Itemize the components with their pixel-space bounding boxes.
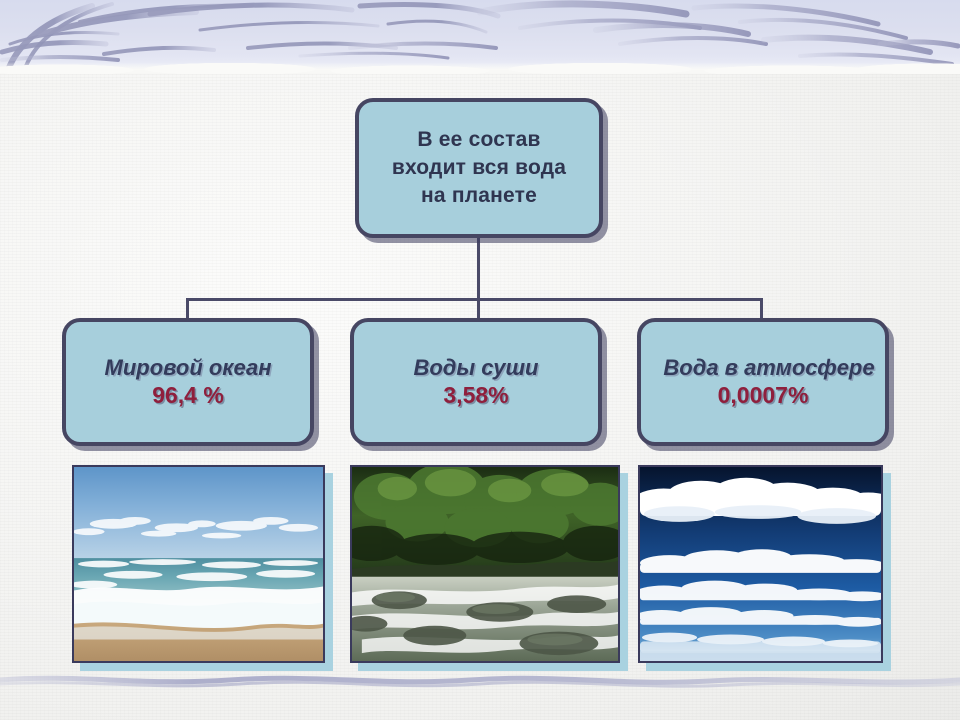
connector-root-stem xyxy=(477,238,480,300)
clouds-sky-photo xyxy=(638,465,883,663)
diagram-node-atmosphere-water[interactable]: Вода в атмосфере 0,0007% xyxy=(637,318,889,446)
slide-canvas: В ее состав входит вся вода на планете М… xyxy=(0,0,960,720)
river-forest-photo xyxy=(350,465,620,663)
diagram-node-land-waters[interactable]: Воды суши 3,58% xyxy=(350,318,602,446)
header-band-soft-edge xyxy=(0,62,960,74)
diagram-node-root[interactable]: В ее состав входит вся вода на планете xyxy=(355,98,603,238)
photo-frame-river xyxy=(350,465,620,663)
node-value-world-ocean: 96,4 % xyxy=(152,382,224,408)
node-value-atmosphere-water: 0,0007% xyxy=(718,382,809,408)
node-title-world-ocean: Мировой океан xyxy=(105,356,272,380)
ocean-beach-photo xyxy=(72,465,325,663)
node-value-land-waters: 3,58% xyxy=(443,382,508,408)
header-decorative-band xyxy=(0,0,960,74)
diagram-node-world-ocean[interactable]: Мировой океан 96,4 % xyxy=(62,318,314,446)
bottom-wave-line-icon xyxy=(0,666,960,706)
connector-drop-middle xyxy=(477,298,480,320)
connector-drop-left xyxy=(186,298,189,320)
node-title-land-waters: Воды суши xyxy=(413,356,538,380)
node-title-atmosphere-water: Вода в атмосфере xyxy=(663,356,874,380)
root-node-label: В ее состав входит вся вода на планете xyxy=(392,126,566,209)
photo-frame-clouds xyxy=(638,465,883,663)
connector-drop-right xyxy=(760,298,763,320)
connector-horizontal-bar xyxy=(186,298,763,301)
photo-frame-ocean xyxy=(72,465,325,663)
